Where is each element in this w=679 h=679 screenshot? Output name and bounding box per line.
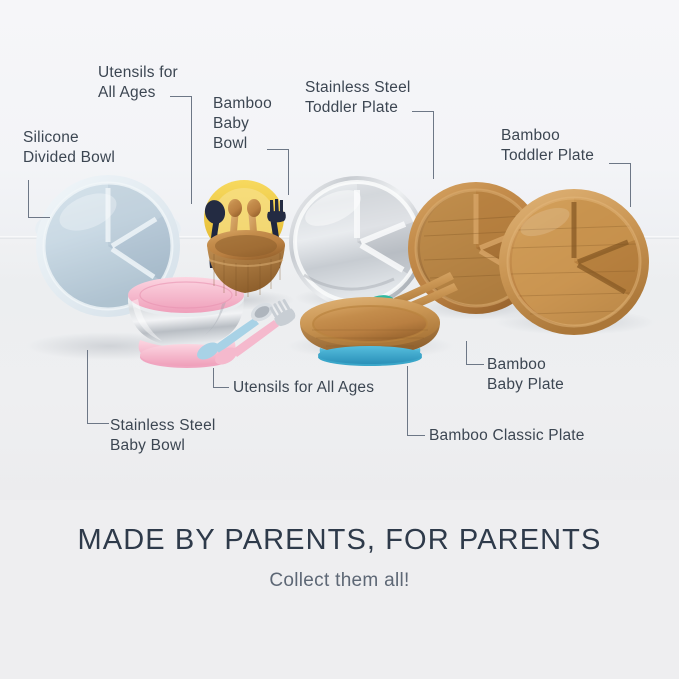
callout-utensils-all-ages-top: Utensils for All Ages [98, 63, 178, 103]
leader-silicone-divided-bowl [28, 180, 50, 218]
footer-headline: MADE BY PARENTS, FOR PARENTS [0, 524, 679, 557]
leader-bamboo-baby-bowl [267, 149, 289, 195]
callout-bamboo-classic-plate: Bamboo Classic Plate [429, 426, 585, 446]
product-stainless-toddler-plate [289, 176, 425, 308]
leader-utensils-all-ages-bottom [213, 368, 229, 388]
leader-bamboo-classic-plate [407, 366, 425, 436]
callout-stainless-baby-bowl: Stainless Steel Baby Bowl [110, 416, 216, 456]
callout-stainless-toddler-plate: Stainless Steel Toddler Plate [305, 78, 411, 118]
callout-utensils-all-ages-bottom: Utensils for All Ages [233, 378, 374, 398]
leader-utensils-all-ages-top [170, 96, 192, 204]
callout-silicone-divided-bowl: Silicone Divided Bowl [23, 128, 115, 168]
product-group [0, 150, 679, 370]
product-infographic: Silicone Divided Bowl Utensils for All A… [0, 0, 679, 679]
product-bamboo-toddler-plate-front [499, 189, 649, 335]
leader-bamboo-baby-plate [466, 341, 484, 365]
callout-bamboo-toddler-plate: Bamboo Toddler Plate [501, 126, 594, 166]
footer-subline: Collect them all! [0, 570, 679, 592]
leader-bamboo-toddler-plate [609, 163, 631, 207]
callout-bamboo-baby-bowl: Bamboo Baby Bowl [213, 94, 272, 154]
leader-stainless-baby-bowl [87, 350, 109, 424]
leader-stainless-toddler-plate [412, 111, 434, 179]
callout-bamboo-baby-plate: Bamboo Baby Plate [487, 355, 564, 395]
